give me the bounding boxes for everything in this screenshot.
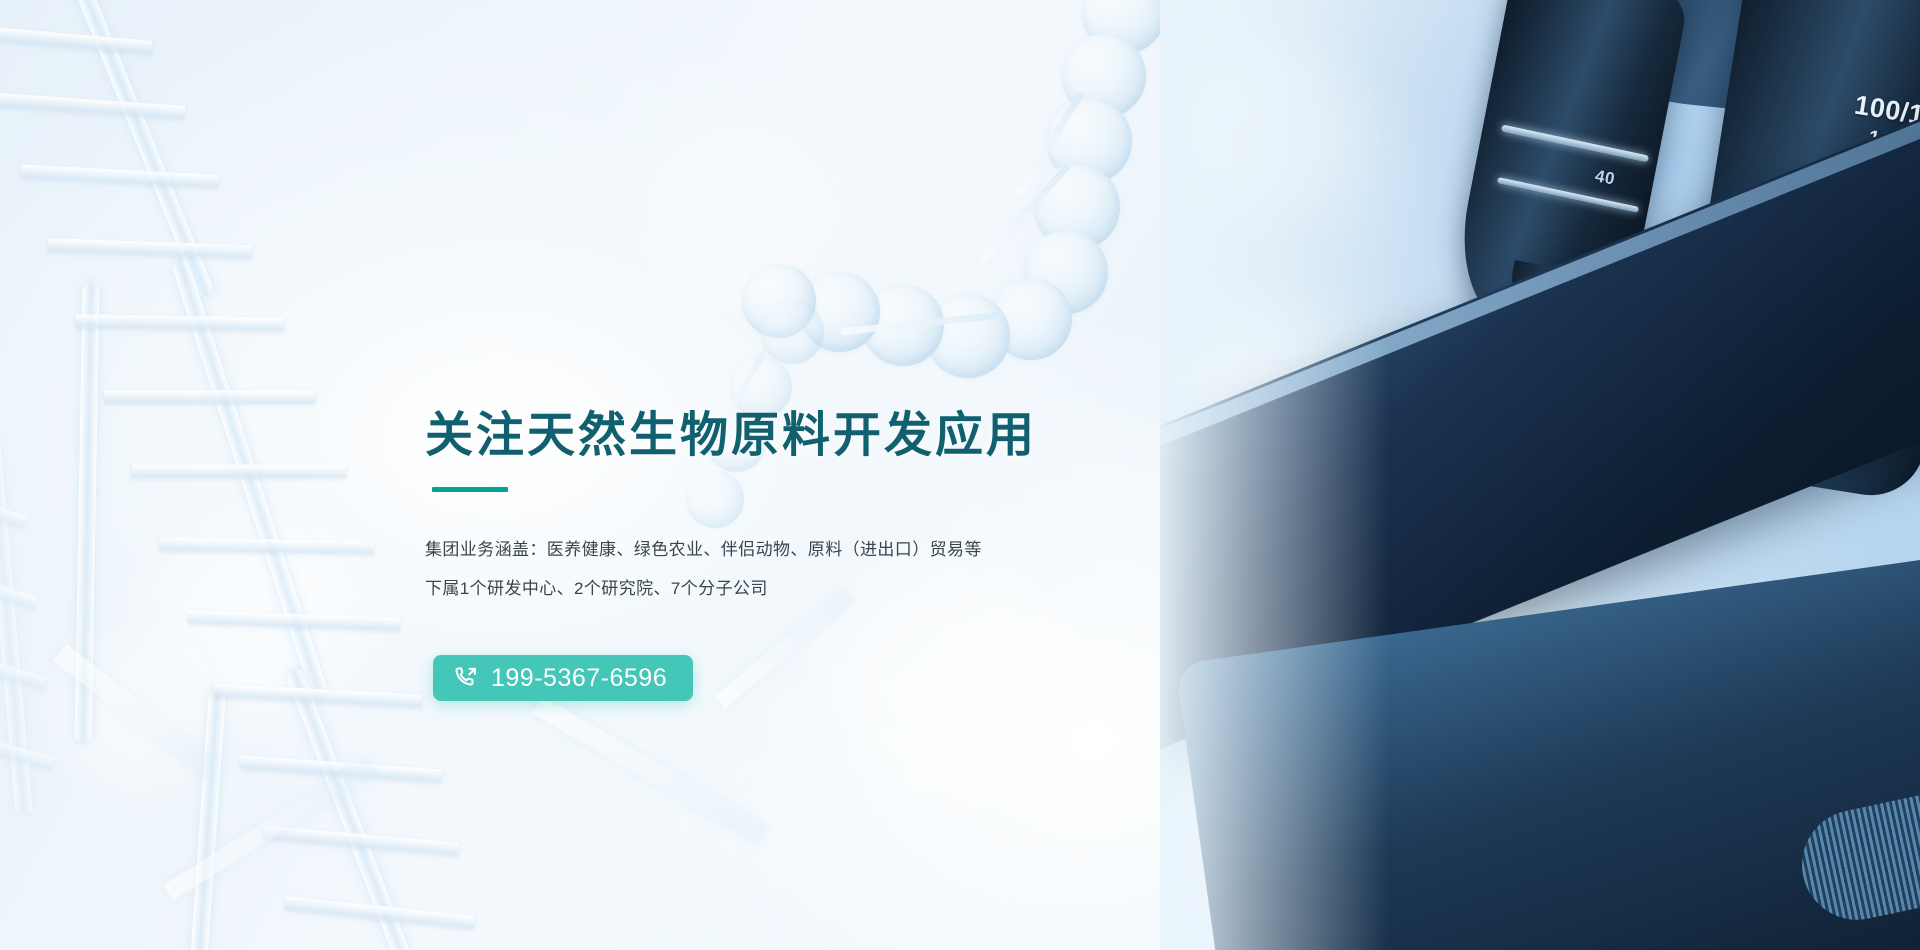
page-title: 关注天然生物原料开发应用 [425, 395, 1037, 465]
hero-content: 关注天然生物原料开发应用 集团业务涵盖：医养健康、绿色农业、伴侣动物、原料（进出… [425, 0, 1325, 950]
hero-description-line-1: 集团业务涵盖：医养健康、绿色农业、伴侣动物、原料（进出口）贸易等 [425, 530, 1065, 569]
hero-description: 集团业务涵盖：医养健康、绿色农业、伴侣动物、原料（进出口）贸易等 下属1个研发中… [425, 530, 1065, 608]
phone-number-text: 199-5367-6596 [491, 666, 667, 691]
dna-helix-graphic-secondary [0, 403, 338, 950]
title-divider [432, 487, 508, 492]
hero-description-line-2: 下属1个研发中心、2个研究院、7个分子公司 [425, 569, 1065, 608]
dna-strand [0, 403, 338, 950]
phone-outgoing-icon [453, 665, 479, 691]
hero-banner: 100/1.25 160/0.17 100 40 关注天然生物原料开发应用 集团… [0, 0, 1920, 950]
phone-call-button[interactable]: 199-5367-6596 [433, 655, 693, 701]
